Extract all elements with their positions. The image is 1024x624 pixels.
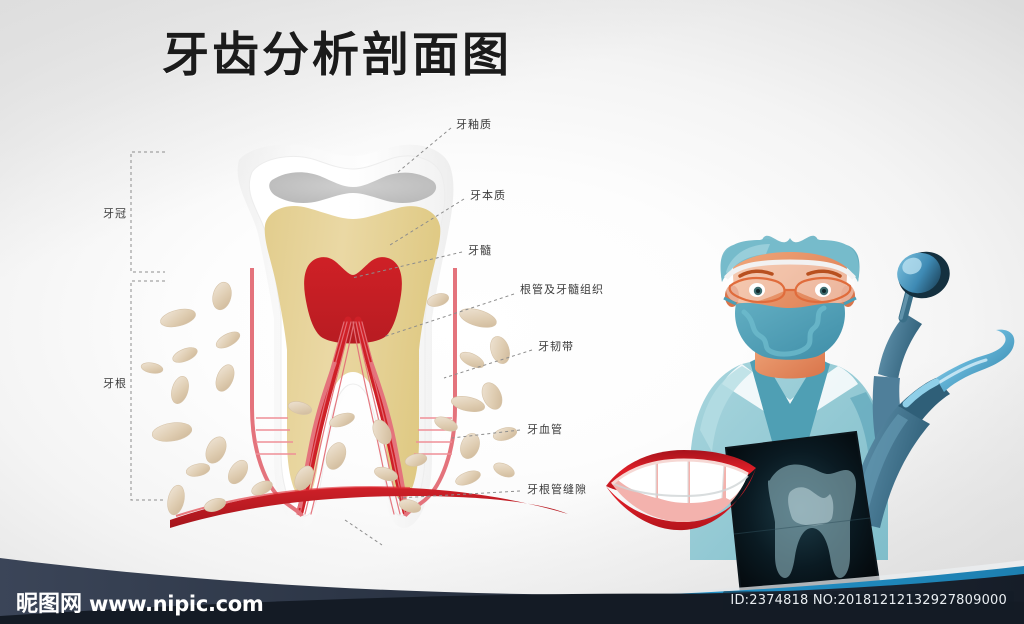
label-crown: 牙冠 bbox=[103, 208, 127, 219]
image-id-watermark: ID:2374818 NO:20181212132927809000 bbox=[723, 591, 1014, 610]
label-root: 牙根 bbox=[103, 378, 127, 389]
label-dentin: 牙本质 bbox=[470, 190, 506, 201]
label-ligament: 牙韧带 bbox=[538, 341, 574, 352]
dentist-illustration-svg bbox=[0, 0, 1024, 624]
poster-canvas: 牙齿分析剖面图 bbox=[0, 0, 1024, 624]
site-brand[interactable]: 昵图网 www.nipic.com bbox=[16, 593, 264, 615]
label-enamel: 牙釉质 bbox=[456, 119, 492, 130]
label-pulp: 牙髓 bbox=[468, 245, 492, 256]
footer-bar: 昵图网 www.nipic.com ID:2374818 NO:20181212… bbox=[0, 552, 1024, 624]
brand-url: www.nipic.com bbox=[89, 594, 264, 615]
label-blood-vessel: 牙血管 bbox=[527, 424, 563, 435]
brand-name-cn: 昵图网 bbox=[16, 593, 82, 615]
label-canal-gap: 牙根管缝隙 bbox=[527, 484, 587, 495]
label-root-canal: 根管及牙髓组织 bbox=[520, 284, 604, 295]
